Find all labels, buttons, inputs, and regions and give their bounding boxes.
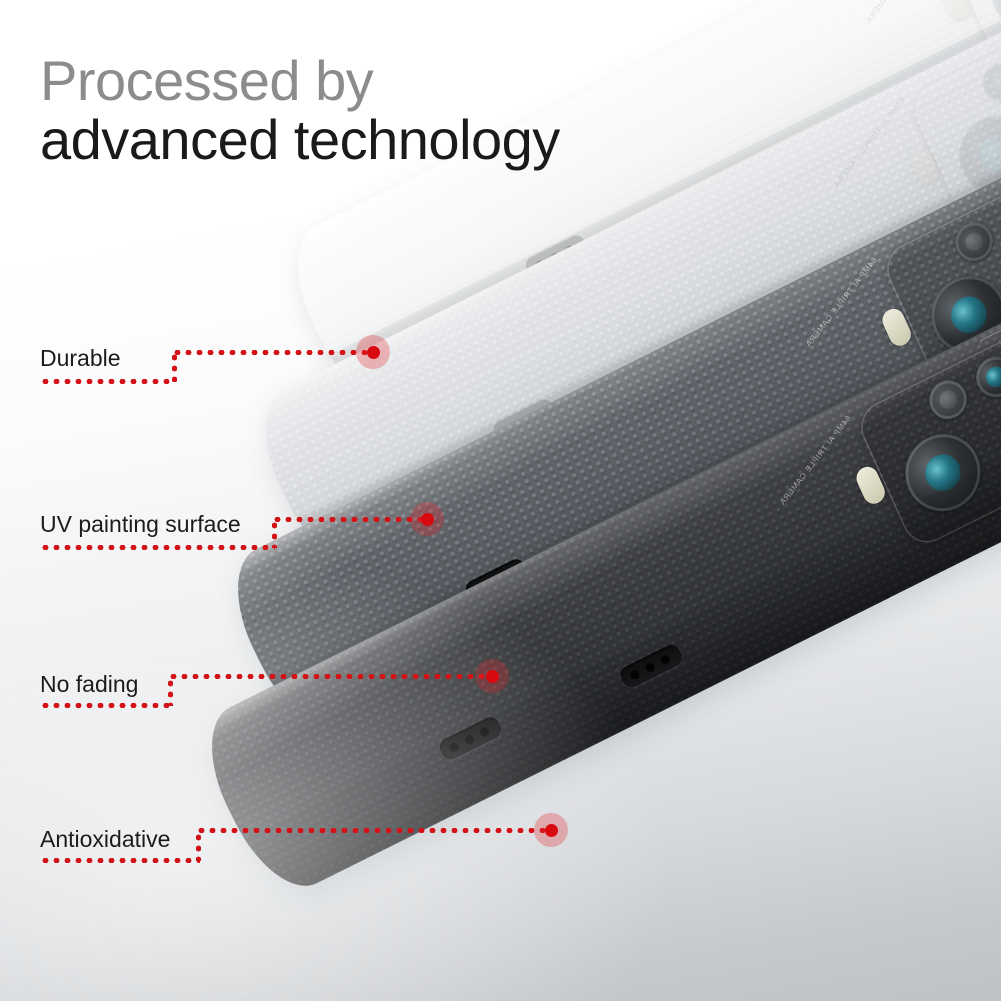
callout-label-no-fading: No fading — [40, 671, 138, 698]
callout-underline-uv-painting — [40, 545, 275, 550]
callout-underline-antioxidative — [40, 858, 200, 863]
callout-underline-no-fading — [40, 703, 172, 708]
callout-riser-uv-painting — [272, 520, 277, 548]
callout-riser-no-fading — [168, 678, 173, 706]
headline-line-2: advanced technology — [40, 110, 560, 170]
callout-marker-no-fading — [475, 659, 509, 693]
callout-leader-uv-painting — [272, 517, 424, 522]
callout-riser-antioxidative — [196, 832, 201, 861]
callout-leader-no-fading — [168, 674, 488, 679]
page-title: Processed by advanced technology — [40, 52, 560, 170]
callout-label-uv-painting: UV painting surface — [40, 511, 241, 538]
callout-marker-antioxidative — [534, 813, 568, 847]
callout-leader-durable — [172, 350, 370, 355]
product-feature-image: NILLKIN 64MP AI TRIPLE CAMERA NILLKIN 64… — [0, 0, 1001, 1001]
callout-leader-antioxidative — [196, 828, 548, 833]
callout-underline-durable — [40, 379, 175, 384]
callout-marker-uv-painting — [410, 502, 444, 536]
callout-marker-durable — [356, 335, 390, 369]
callout-label-durable: Durable — [40, 345, 121, 372]
headline-line-1: Processed by — [40, 52, 560, 110]
callout-label-antioxidative: Antioxidative — [40, 826, 170, 853]
callout-riser-durable — [172, 352, 177, 382]
